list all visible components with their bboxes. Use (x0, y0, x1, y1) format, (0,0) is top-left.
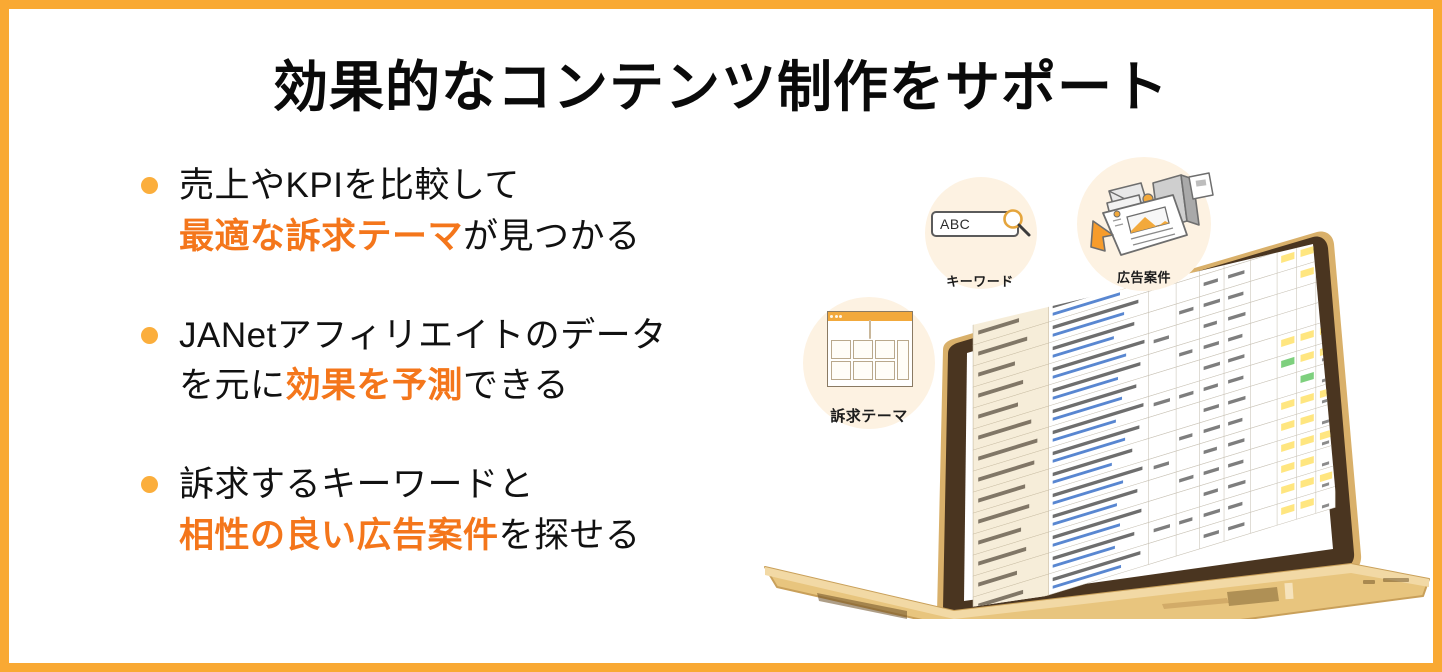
badge-keyword: ABC キーワード (915, 177, 1045, 281)
thumbnail-cell (875, 340, 895, 359)
bullet-prefix: を元に (179, 366, 286, 405)
bullet-tail: が見つかる (463, 217, 641, 256)
bullet-tail: できる (463, 366, 569, 405)
bullet-line-1: 売上やKPIを比較して (179, 166, 520, 205)
browser-grid-icon (797, 297, 941, 401)
badge-caption: 訴求テーマ (830, 408, 908, 425)
bullet-highlight: 相性の良い広告案件 (179, 516, 499, 555)
search-box-icon: ABC (915, 177, 1045, 261)
slide-canvas: 効果的なコンテンツ制作をサポート 売上やKPIを比較して 最適な訴求テーマが見つ… (0, 0, 1442, 672)
badge-ad: 広告案件 (1069, 157, 1219, 285)
bullet-dot-icon (141, 476, 158, 493)
mini-browser-window (827, 311, 913, 387)
window-dot-icon (830, 315, 833, 318)
thumbnail-cell (853, 361, 873, 380)
bullet-line-1: 訴求するキーワードと (179, 465, 534, 504)
list-item: JANetアフィリエイトのデータ を元に効果を予測できる (141, 311, 781, 413)
thumbnail-cell (875, 361, 895, 380)
bullet-tail: を探せる (499, 516, 641, 555)
laptop-hinge-light (1284, 583, 1293, 600)
feature-bullet-list: 売上やKPIを比較して 最適な訴求テーマが見つかる JANetアフィリエイトのデ… (141, 161, 781, 562)
bullet-text: JANetアフィリエイトのデータ を元に効果を予測できる (141, 311, 781, 413)
bullet-line-2: を元に効果を予測できる (179, 361, 781, 412)
bullet-dot-icon (141, 177, 158, 194)
badge-caption: キーワード (946, 274, 1014, 289)
window-dot-icon (835, 315, 838, 318)
page-title: 効果的なコンテンツ制作をサポート (9, 42, 1433, 122)
bullet-text: 売上やKPIを比較して 最適な訴求テーマが見つかる (141, 161, 781, 263)
bullet-highlight: 効果を予測 (286, 366, 464, 405)
ad-documents-glyph (1069, 169, 1219, 265)
bullet-line-1: JANetアフィリエイトのデータ (179, 316, 667, 355)
window-dot-icon (839, 315, 842, 318)
bullet-highlight: 最適な訴求テーマ (179, 217, 463, 256)
illustration-group: ABC キーワード (757, 149, 1437, 619)
list-item: 売上やKPIを比較して 最適な訴求テーマが見つかる (141, 161, 781, 263)
thumbnail-cell (831, 340, 851, 359)
thumbnail-cell (831, 361, 851, 380)
browser-search-bar (869, 320, 871, 339)
bullet-line-2: 相性の良い広告案件を探せる (179, 511, 781, 562)
bullet-line-2: 最適な訴求テーマが見つかる (179, 212, 781, 263)
bullet-text: 訴求するキーワードと 相性の良い広告案件を探せる (141, 460, 781, 562)
badge-theme: 訴求テーマ (797, 297, 941, 422)
sidebar-panel (897, 340, 909, 380)
search-icon (999, 206, 1033, 240)
list-item: 訴求するキーワードと 相性の良い広告案件を探せる (141, 460, 781, 562)
bullet-dot-icon (141, 327, 158, 344)
badge-caption: 広告案件 (1117, 270, 1171, 285)
thumbnail-cell (853, 340, 873, 359)
thumbnail-grid (828, 339, 912, 381)
ad-documents-icon (1069, 157, 1219, 265)
